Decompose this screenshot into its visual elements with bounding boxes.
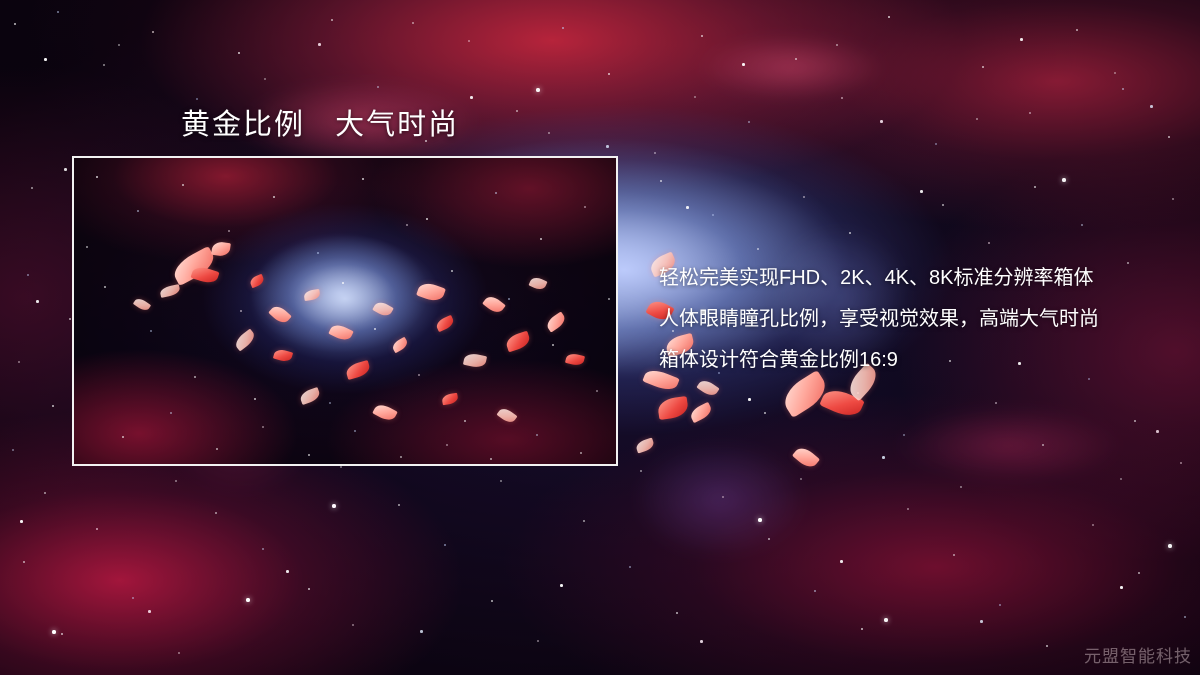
- watermark-text: 元盟智能科技: [1084, 642, 1192, 667]
- flower-petal: [657, 396, 689, 420]
- starfield-large: [0, 0, 4, 4]
- presentation-slide: 黄金比例 大气时尚 轻松完美实现FHD、2K、4K、8K标准分辨率箱体 人体眼睛…: [0, 0, 1200, 675]
- flower-petal: [792, 444, 820, 471]
- frame-starfield: [74, 158, 76, 160]
- body-line-1: 轻松完美实现FHD、2K、4K、8K标准分辨率箱体: [659, 258, 1179, 299]
- flower-petal: [688, 402, 713, 423]
- nebula-photo-image: [74, 158, 616, 464]
- flower-petal: [635, 437, 656, 453]
- nebula-photo-frame: [72, 156, 618, 466]
- body-line-2: 人体眼睛瞳孔比例，享受视觉效果，高端大气时尚: [659, 299, 1179, 340]
- slide-title: 黄金比例 大气时尚: [181, 101, 459, 143]
- body-line-3: 箱体设计符合黄金比例16:9: [659, 340, 1179, 381]
- body-copy: 轻松完美实现FHD、2K、4K、8K标准分辨率箱体 人体眼睛瞳孔比例，享受视觉效…: [659, 258, 1179, 381]
